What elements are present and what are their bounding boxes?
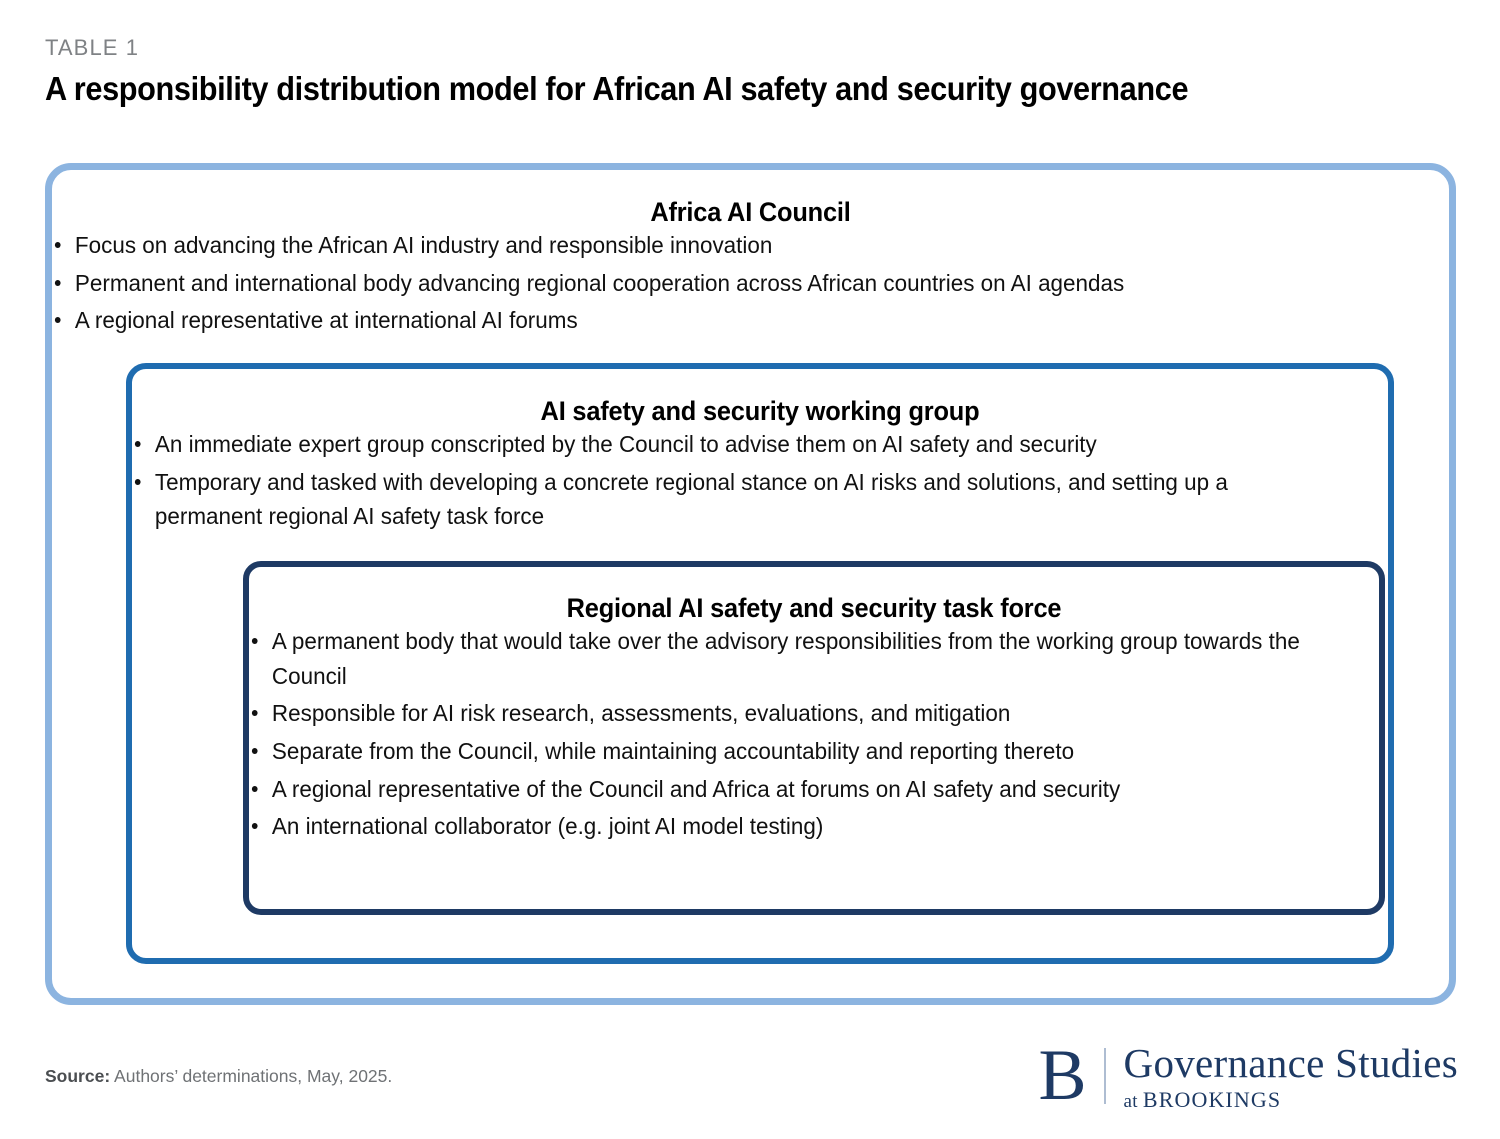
table-figure: TABLE 1 A responsibility distribution mo… [0, 0, 1500, 1139]
box-task-force: Regional AI safety and security task for… [243, 561, 1385, 915]
list-item: An international collaborator (e.g. join… [249, 809, 1328, 844]
logo-at-prefix: at [1124, 1091, 1143, 1112]
list-item: Focus on advancing the African AI indust… [52, 228, 1386, 263]
list-item: Separate from the Council, while maintai… [249, 734, 1328, 769]
bullet-list-task-force: A permanent body that would take over th… [249, 624, 1379, 843]
list-item: A regional representative at internation… [52, 303, 1386, 338]
box-working-group: AI safety and security working group An … [126, 363, 1394, 964]
logo-brookings-name: BROOKINGS [1143, 1087, 1281, 1112]
table-label: TABLE 1 [45, 36, 1445, 60]
source-label: Source: [45, 1066, 110, 1086]
logo-at-brookings: at BROOKINGS [1124, 1087, 1458, 1114]
list-item: Permanent and international body advanci… [52, 266, 1386, 301]
list-item: A regional representative of the Council… [249, 772, 1328, 807]
list-item: Responsible for AI risk research, assess… [249, 696, 1328, 731]
list-item: Temporary and tasked with developing a c… [132, 465, 1331, 534]
bullet-list-africa-ai-council: Focus on advancing the African AI indust… [52, 228, 1449, 338]
logo-governance-studies: Governance Studies [1124, 1042, 1458, 1085]
list-item: A permanent body that would take over th… [249, 624, 1328, 693]
heading-task-force: Regional AI safety and security task for… [283, 567, 1345, 624]
page-title: A responsibility distribution model for … [45, 70, 1347, 109]
box-africa-ai-council: Africa AI Council Focus on advancing the… [45, 163, 1456, 1005]
list-item: An immediate expert group conscripted by… [132, 427, 1331, 462]
source-note: Source: Authors’ determinations, May, 20… [45, 1065, 392, 1088]
brookings-logo: B Governance Studies at BROOKINGS [1039, 1042, 1458, 1114]
figure-header: TABLE 1 A responsibility distribution mo… [45, 36, 1445, 109]
logo-wordmark: Governance Studies at BROOKINGS [1106, 1042, 1458, 1114]
heading-africa-ai-council: Africa AI Council [94, 170, 1407, 228]
heading-working-group: AI safety and security working group [170, 369, 1351, 427]
source-text: Authors’ determinations, May, 2025. [110, 1066, 392, 1086]
bullet-list-working-group: An immediate expert group conscripted by… [132, 427, 1388, 534]
brookings-monogram-icon: B [1039, 1042, 1104, 1114]
